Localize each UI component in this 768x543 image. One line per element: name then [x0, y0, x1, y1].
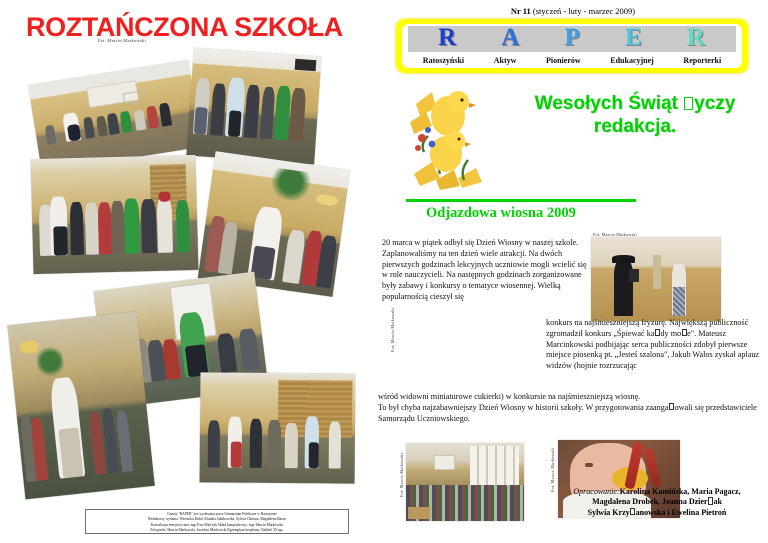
masthead-word-ratoszynski: Ratoszyński: [423, 56, 464, 65]
imprint-line-4: Fotografie: Marcin Markowski, Jarosław M…: [91, 528, 343, 533]
credits-line-3b: anowska i Ewelina Pietroń: [636, 508, 727, 517]
article-p3-part-b: To był chyba najzabawniejszy Dzień Wiosn…: [378, 403, 669, 412]
section-title: Odjazdowa wiosna 2009: [426, 205, 756, 222]
easter-chicks-clipart: [406, 82, 502, 192]
masthead-letter-e: E: [625, 24, 643, 52]
credits-line-3a: Sylwia Krzy: [588, 508, 630, 517]
newsletter-page: ROZTAŃCZONA SZKOŁA Fot. Marcin Markowski: [0, 0, 768, 543]
masthead-letter-r1: R: [438, 24, 457, 52]
greeting-line-1b: yczy: [694, 93, 735, 114]
masthead-letter-p: P: [565, 24, 581, 52]
photo-credit-vertical-mid: Fot. Marcin Markowski: [390, 300, 395, 352]
photo-dance-hat-girl: [591, 237, 721, 321]
section-divider: [406, 199, 636, 202]
missing-glyph-box-icon: [684, 97, 693, 110]
article-paragraph-2: konkurs na najśmieszniejszą fryzurę. Naj…: [546, 318, 764, 372]
photo-gym-dance-line-middle-left: [31, 155, 199, 274]
missing-glyph-box-icon: [682, 329, 687, 337]
masthead-word-aktyw: Aktyw: [494, 56, 517, 65]
photo-hall-dance-girl-bottom-left: [7, 312, 155, 500]
credits-line-2a: Magdalena Drobek, Joanna Dzier: [592, 497, 707, 506]
masthead-word-pionierow: Pionierów: [546, 56, 581, 65]
photo-gym-dance-group-top-right: [186, 48, 321, 165]
photo-credit-vertical-auditorium: Fot. Marcin Markowski: [399, 445, 404, 497]
masthead-logo: R A P E R Ratoszyński Aktyw Pionierów Ed…: [396, 19, 748, 73]
missing-glyph-box-icon: [630, 508, 635, 516]
issue-date: (styczeń - luty - marzec 2009): [531, 6, 635, 16]
credits-block: Opracowanie:Karolina Kamińska, Maria Pag…: [546, 487, 768, 518]
masthead-word-reporterki: Reporterki: [683, 56, 721, 65]
article-p3-part-a: wśród widowni miniaturowe cukierki) w ko…: [378, 392, 764, 403]
photo-credit-title: Fot. Marcin Markowski: [98, 38, 146, 43]
issue-line: Nr 11 (styczeń - luty - marzec 2009): [378, 6, 768, 16]
masthead-word-edukacyjnej: Edukacyjnej: [610, 56, 654, 65]
article-paragraph-3: wśród widowni miniaturowe cukierki) w ko…: [378, 392, 764, 424]
page-title: ROZTAŃCZONA SZKOŁA: [26, 12, 356, 43]
greeting-line-2: redakcja.: [594, 116, 676, 137]
issue-number: Nr 11: [511, 6, 531, 16]
missing-glyph-box-icon: [669, 403, 674, 411]
credits-line-1: Karolina Kamińska, Maria Pagacz,: [620, 487, 741, 496]
article-paragraph-1: 20 marca w piątek odbył się Dzień Wiosny…: [382, 238, 590, 303]
easter-greeting: Wesołych Świąt yczy redakcja.: [510, 92, 760, 138]
imprint-box: Gazeta "RAPER" jest wydawana przez Gimna…: [85, 509, 349, 534]
masthead-words: Ratoszyński Aktyw Pionierów Edukacyjnej …: [402, 53, 742, 67]
masthead-letters: R A P E R: [402, 24, 742, 52]
masthead-letter-r2: R: [687, 24, 706, 52]
greeting-line-1a: Wesołych Świąt: [535, 93, 684, 114]
photo-auditorium: [406, 443, 524, 521]
right-column: Nr 11 (styczeń - luty - marzec 2009) R A…: [378, 0, 768, 543]
left-column: ROZTAŃCZONA SZKOŁA Fot. Marcin Markowski: [0, 0, 378, 543]
article-p2-part-b: dy mo: [660, 329, 681, 338]
credits-line-2b: ak: [713, 497, 721, 506]
photo-credit-vertical-apple: Fot. Marcin Markowski: [550, 444, 555, 492]
masthead-letter-a: A: [501, 24, 520, 52]
credits-label: Opracowanie:: [573, 487, 619, 496]
photo-gym-dance-wall-bars-bottom-right: [200, 372, 356, 483]
